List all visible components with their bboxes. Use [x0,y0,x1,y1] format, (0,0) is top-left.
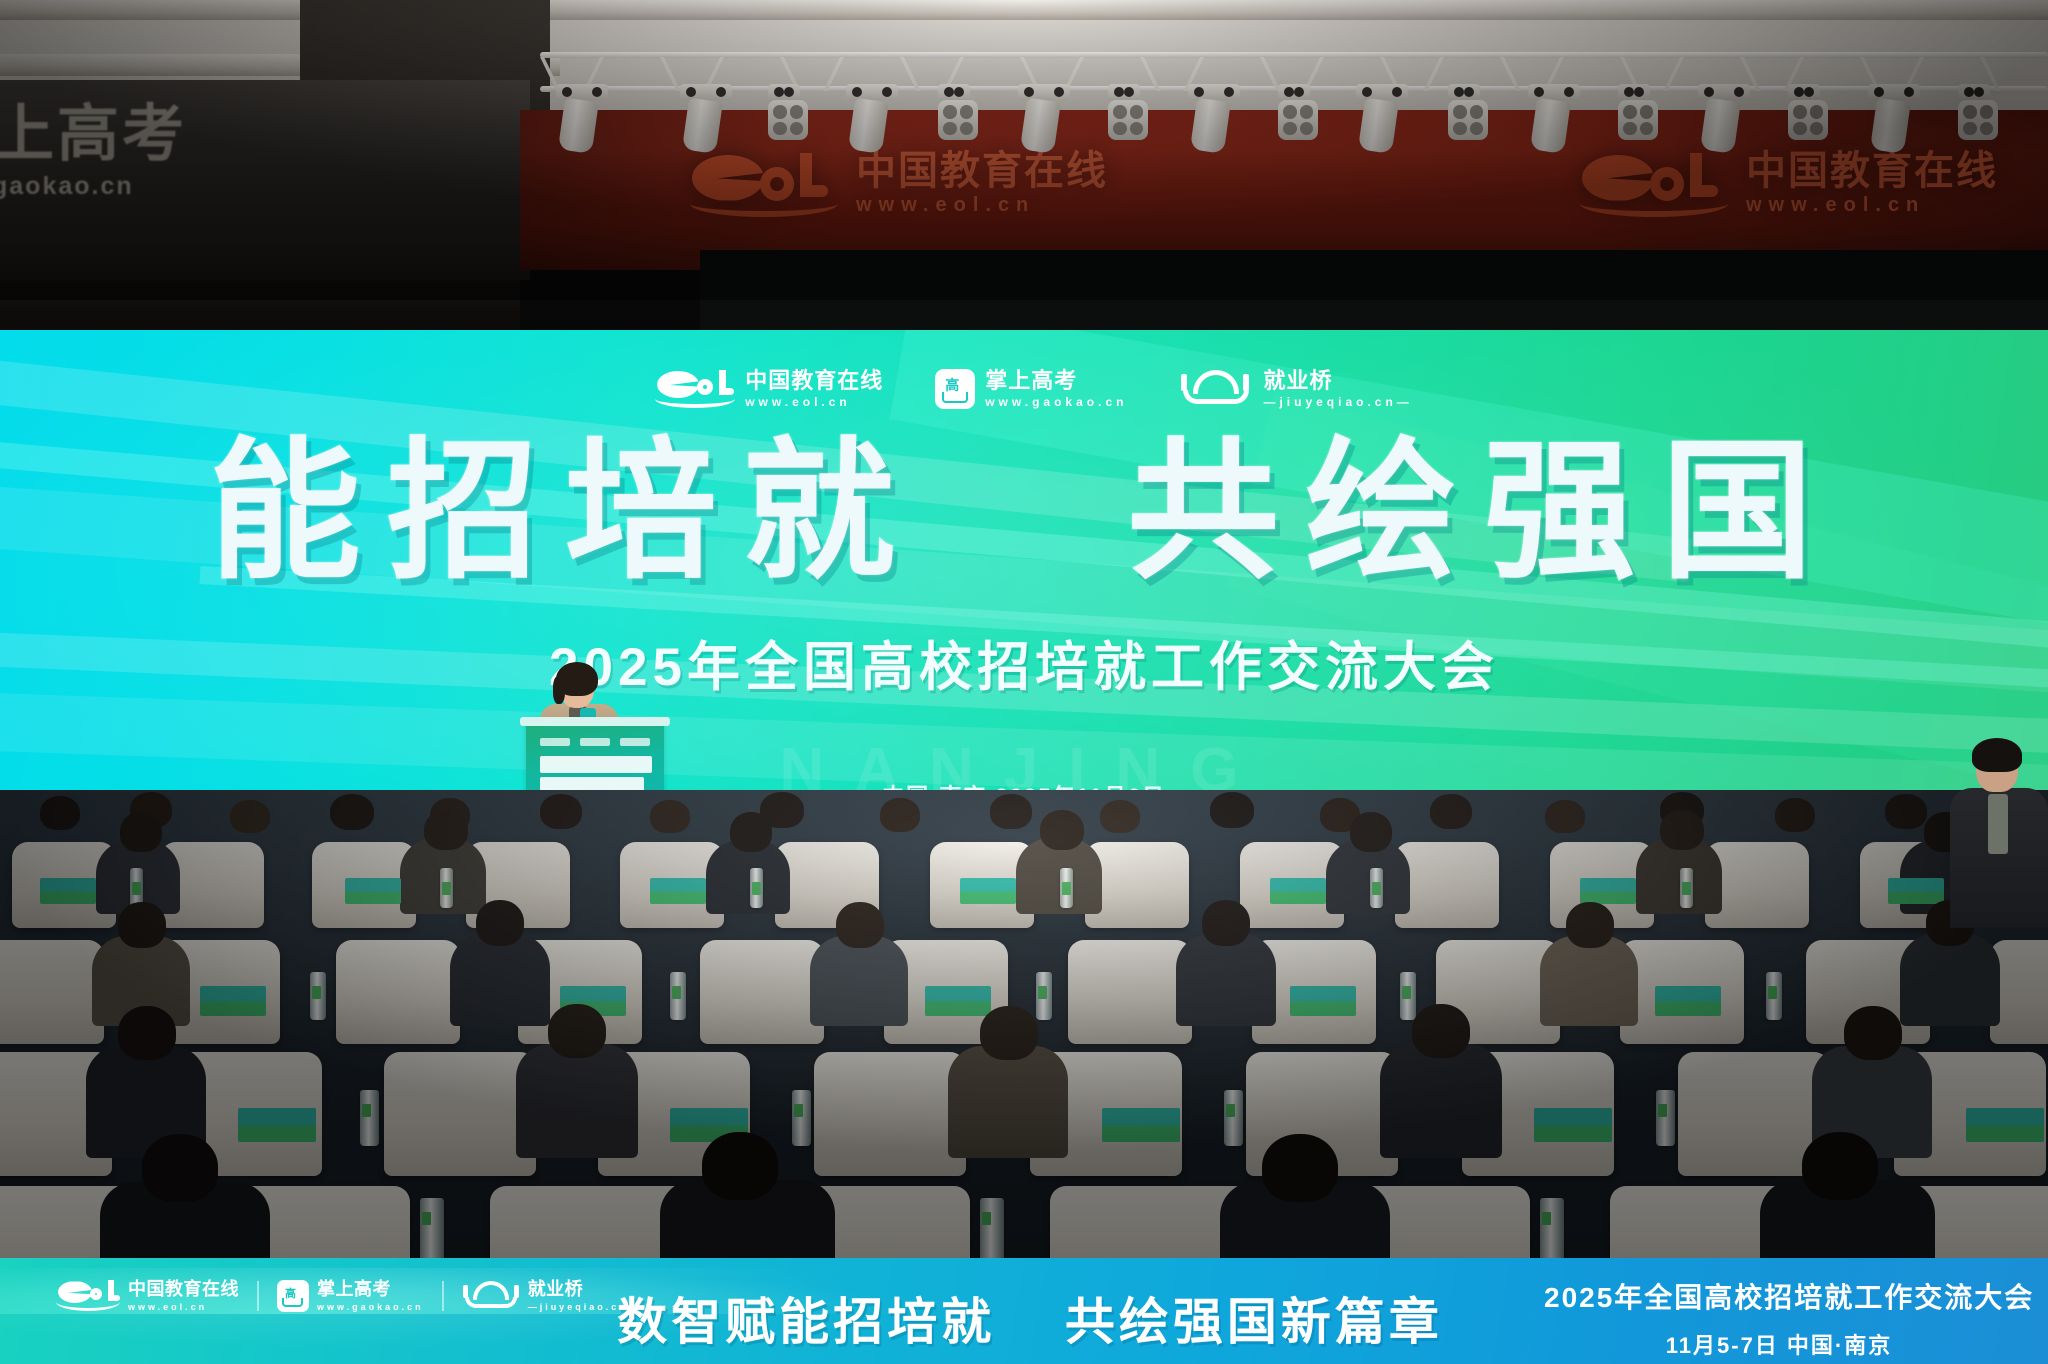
led-par-can [1448,84,1488,140]
red-wall-eol-url-1: www.eol.cn [856,194,1108,217]
led-headline-left: 能招培就 [209,427,921,597]
led-par-can [1958,84,1998,140]
red-wall-eol-brand-2: 中国教育在线 [1746,150,1998,192]
red-wall-eol-text-1: 中国教育在线 www.eol.cn [856,150,1108,217]
led-logo-gaokao-title: 掌上高考 [985,369,1127,393]
led-par-can [938,84,978,140]
led-subtitle: 2025年全国高校招培就工作交流大会 [0,625,2048,701]
bb-logo-eol: 中国教育在线 www.eol.cn [40,1280,257,1312]
standing-attendee [1952,742,2048,922]
led-logo-eol: 中国教育在线 www.eol.cn [631,369,909,409]
led-par-can [768,84,808,140]
bottom-banner-slogan: 数智赋能招培就 共绘强国新篇章 [600,1282,1460,1354]
led-logo-eol-url: www.eol.cn [745,395,883,409]
wall-sign-gaokao: 上高考 gaokao.cn [0,104,242,214]
led-logo-jiuyeqiao-url: —jiuyeqiao.cn— [1263,395,1412,409]
bb-event-title: 2025年全国高校招培就工作交流大会 [1544,1276,2014,1316]
eol-icon [690,153,840,215]
bb-logo-gaokao-url: www.gaokao.cn [317,1302,424,1312]
audience-area [0,790,2048,1280]
bb-slogan-part2: 共绘强国新篇章 [1065,1294,1443,1350]
led-par-can [1108,84,1148,140]
podium-slogan-line1 [540,756,652,773]
wall-sign-gaokao-url: gaokao.cn [0,172,242,201]
bottom-banner-logo-strip: 中国教育在线 www.eol.cn 高 掌上高考 www.gaokao.cn [40,1280,658,1312]
red-wall-eol-text-2: 中国教育在线 www.eol.cn [1746,150,1998,217]
led-logo-gaokao-url: www.gaokao.cn [985,395,1127,409]
bb-event-dateline: 11月5-7日 中国·南京 [1544,1328,2014,1360]
moving-head-spotlight [1868,84,1920,152]
audience-shading [0,790,2048,1280]
led-logo-strip: 中国教育在线 www.eol.cn 高 掌上高考 www.gaokao.cn 就… [655,358,1415,420]
wall-black-band [700,250,2048,340]
red-wall-eol-logo-2: 中国教育在线 www.eol.cn [1580,150,1998,217]
eol-icon [1580,153,1730,215]
jiuyeqiao-bridge-icon [1179,370,1253,408]
bb-logo-eol-title: 中国教育在线 [128,1280,239,1300]
gaokao-icon: 高 [277,1280,309,1312]
led-par-can [1618,84,1658,140]
led-headline: 能招培就 共绘强国 [0,412,2048,612]
bottom-banner: 中国教育在线 www.eol.cn 高 掌上高考 www.gaokao.cn [0,1258,2048,1364]
led-logo-eol-title: 中国教育在线 [745,369,883,393]
bb-logo-eol-url: www.eol.cn [128,1302,239,1312]
moving-head-spotlight [846,84,898,152]
jiuyeqiao-bridge-icon [462,1281,520,1311]
wall-sign-gaokao-cn: 上高考 [0,104,242,166]
eol-icon [657,371,735,407]
led-par-can [1278,84,1318,140]
led-logo-jiuyeqiao-title: 就业桥 [1263,369,1412,393]
conference-photo-scene: 上高考 gaokao.cn 中国教育在线 www.eol.cn 中国教育在线 w… [0,0,2048,1364]
moving-head-spotlight [1356,84,1408,152]
moving-head-spotlight [556,84,608,152]
led-par-can [1788,84,1828,140]
led-logo-gaokao: 高 掌上高考 www.gaokao.cn [909,369,1153,409]
moving-head-spotlight [1528,84,1580,152]
led-headline-right: 共绘强国 [1127,427,1839,597]
moving-head-spotlight [680,84,732,152]
moving-head-spotlight [1188,84,1240,152]
eol-icon [58,1281,120,1310]
bb-logo-gaokao-title: 掌上高考 [317,1280,424,1300]
red-wall-eol-logo-1: 中国教育在线 www.eol.cn [690,150,1108,217]
led-logo-jiuyeqiao: 就业桥 —jiuyeqiao.cn— [1153,369,1438,409]
red-wall-eol-url-2: www.eol.cn [1746,194,1998,217]
bottom-banner-event-block: 2025年全国高校招培就工作交流大会 11月5-7日 中国·南京 [1544,1276,2014,1360]
gaokao-icon: 高 [935,369,975,409]
bb-logo-gaokao: 高 掌上高考 www.gaokao.cn [259,1280,442,1312]
moving-head-spotlight [1018,84,1070,152]
moving-head-spotlight [1698,84,1750,152]
bb-slogan-part1: 数智赋能招培就 [617,1294,995,1350]
red-wall-eol-brand-1: 中国教育在线 [856,150,1108,192]
